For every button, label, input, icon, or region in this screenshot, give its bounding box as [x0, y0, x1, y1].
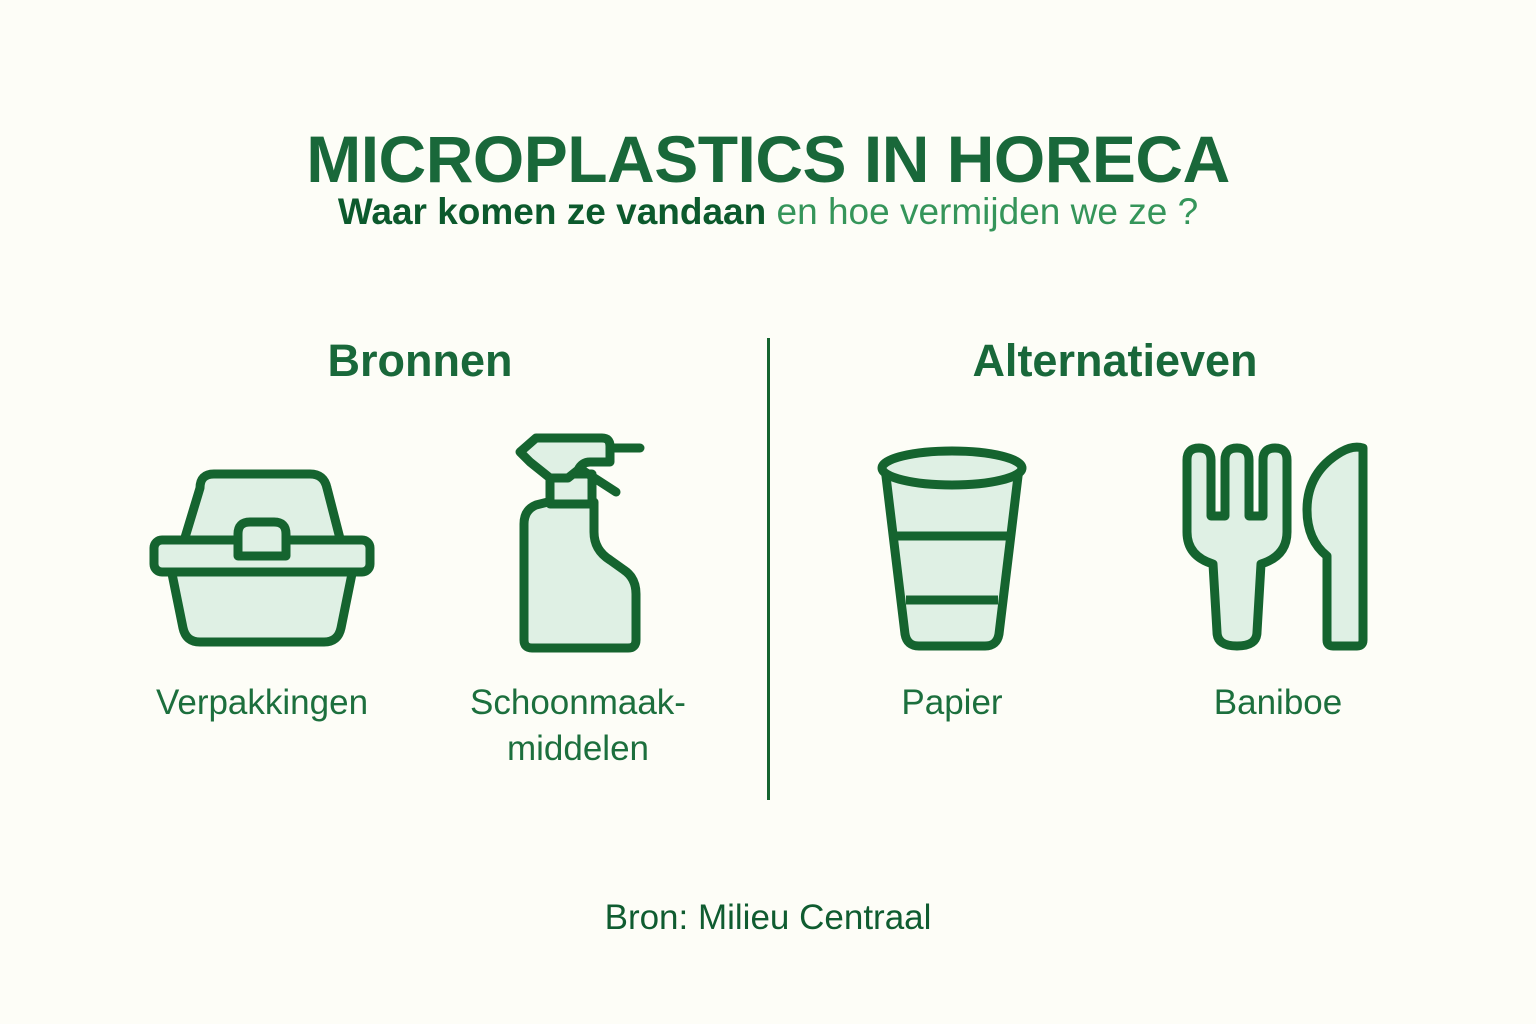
item-schoonmaakmiddelen[interactable]: Schoonmaak-middelen [463, 443, 693, 772]
item-label-schoonmaakmiddelen: Schoonmaak-middelen [463, 680, 693, 772]
source-credit: Bron: Milieu Centraal [0, 898, 1536, 938]
page-title: MICROPLASTICS IN HORECA [0, 126, 1536, 192]
item-label-papier: Papier [901, 680, 1002, 726]
item-label-baniboe: Baniboe [1214, 680, 1342, 726]
alternatives-item-list: Papier Baniboe [805, 443, 1425, 726]
item-label-verpakkingen: Verpakkingen [156, 680, 368, 726]
column-sources: Bronnen Verpakkingen [110, 338, 730, 772]
item-verpakkingen[interactable]: Verpakkingen [147, 443, 377, 726]
spray-bottle-icon [490, 443, 666, 658]
fork-and-knife-icon [1173, 443, 1383, 658]
item-baniboe[interactable]: Baniboe [1163, 443, 1393, 726]
subtitle-strong-part: Waar komen ze vandaan [338, 191, 766, 232]
subtitle-light-part: en hoe vermijden we ze ? [766, 191, 1198, 232]
takeaway-container-icon [138, 443, 386, 658]
column-heading-sources: Bronnen [110, 338, 730, 383]
page-subtitle: Waar komen ze vandaan en hoe vermijden w… [0, 192, 1536, 233]
column-heading-alternatives: Alternatieven [805, 338, 1425, 383]
sources-item-list: Verpakkingen [110, 443, 730, 772]
paper-cup-icon [859, 443, 1045, 658]
column-alternatives: Alternatieven Papier [805, 338, 1425, 726]
item-papier[interactable]: Papier [837, 443, 1067, 726]
infographic-poster: MICROPLASTICS IN HORECA Waar komen ze va… [0, 0, 1536, 1024]
column-divider [767, 338, 770, 800]
